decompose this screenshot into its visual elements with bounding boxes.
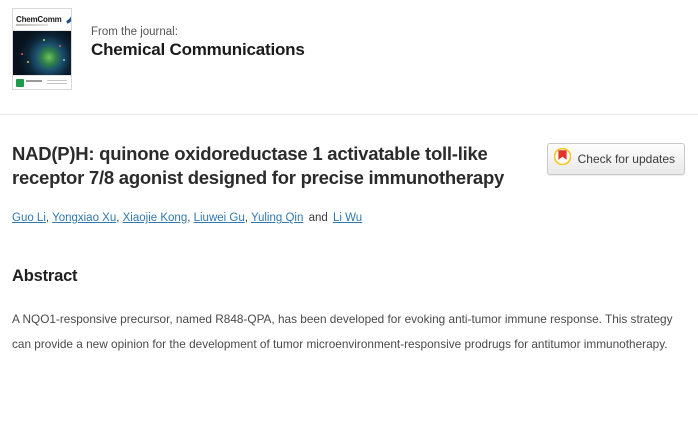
abstract-text: A NQO1-responsive precursor, named R848-… [12, 307, 686, 355]
crossmark-icon [554, 148, 571, 170]
cover-spark [27, 61, 29, 63]
author-link[interactable]: Yuling Qin [251, 212, 303, 224]
cover-masthead: ChemComm [13, 9, 71, 31]
author-link[interactable]: Yongxiao Xu [52, 212, 116, 224]
journal-cover-thumbnail[interactable]: ChemComm [12, 8, 72, 90]
author-conjunction: and [303, 212, 333, 224]
cover-footer [13, 75, 71, 89]
abstract-heading: Abstract [12, 267, 686, 286]
author-list: Guo Li, Yongxiao Xu, Xiaojie Kong, Liuwe… [12, 210, 686, 227]
page-title: NAD(P)H: quinone oxidoreductase 1 activa… [12, 142, 547, 190]
title-row: NAD(P)H: quinone oxidoreductase 1 activa… [12, 115, 686, 190]
from-journal-label: From the journal: [91, 25, 305, 39]
cover-subtitle-rule [16, 24, 48, 26]
cover-spark [63, 59, 65, 61]
check-for-updates-label: Check for updates [578, 153, 675, 165]
cover-footer-rule [47, 80, 67, 81]
journal-header: ChemComm From the journal: Chemical Comm… [0, 0, 698, 114]
article-landing-page: ChemComm From the journal: Chemical Comm… [0, 0, 698, 422]
cover-footer-rule [26, 80, 42, 82]
author-link[interactable]: Guo Li [12, 212, 46, 224]
article-block: NAD(P)H: quinone oxidoreductase 1 activa… [0, 115, 698, 356]
rsc-logo-icon [16, 79, 24, 87]
cover-spark [21, 53, 23, 55]
author-link[interactable]: Xiaojie Kong [123, 212, 188, 224]
cover-artwork [13, 31, 71, 75]
journal-meta: From the journal: Chemical Communication… [72, 8, 305, 61]
check-for-updates-button[interactable]: Check for updates [547, 143, 685, 175]
journal-name[interactable]: Chemical Communications [91, 40, 305, 60]
author-link[interactable]: Li Wu [333, 212, 362, 224]
cover-spark [59, 45, 61, 47]
cover-spark [43, 39, 45, 41]
author-link[interactable]: Liuwei Gu [194, 212, 245, 224]
